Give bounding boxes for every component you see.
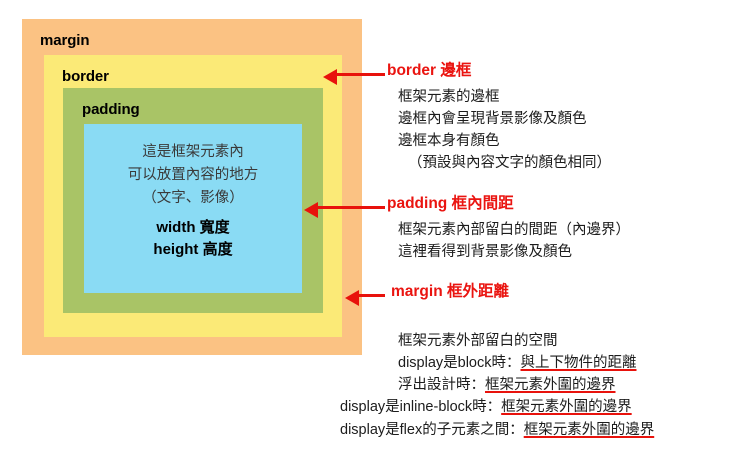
margin-layer: margin border padding 這是框架元素內 可以放置內容的地方 … (22, 19, 362, 355)
case-prefix: display是block時： (398, 355, 521, 371)
case-underlined: 與上下物件的距離 (521, 355, 637, 371)
annotation-line: 框架元素的邊框 (398, 86, 611, 108)
annotation-title-border: border 邊框 (387, 62, 611, 80)
border-layer-label: border (62, 69, 109, 84)
arrow-to-padding-icon (317, 206, 385, 209)
annotation-case-line: display是block時：與上下物件的距離 (398, 352, 750, 374)
box-model-diagram: margin border padding 這是框架元素內 可以放置內容的地方 … (22, 19, 362, 355)
annotation-line: 邊框本身有顏色 (398, 130, 611, 152)
content-text-line: （文字、影像） (142, 187, 244, 210)
annotation-line: 這裡看得到背景影像及顏色 (398, 241, 630, 263)
margin-layer-label: margin (40, 33, 89, 48)
case-prefix: 浮出設計時： (398, 377, 485, 393)
content-height-label: height 高度 (153, 239, 232, 261)
annotation-block-margin: margin 框外距離 (387, 283, 509, 307)
annotation-title-padding: padding 框內間距 (387, 195, 630, 213)
annotation-line: 框架元素外部留白的空間 (398, 330, 750, 352)
padding-layer-label: padding (82, 102, 140, 117)
content-text-line: 這是框架元素內 (142, 141, 244, 164)
annotation-margin-body: 框架元素外部留白的空間 display是block時：與上下物件的距離 浮出設計… (387, 330, 750, 396)
content-text-line: 可以放置內容的地方 (128, 164, 259, 187)
case-prefix: display是inline-block時： (340, 399, 501, 415)
annotation-case-line: display是inline-block時：框架元素外圍的邊界 (340, 396, 750, 419)
arrow-to-margin-icon (358, 294, 385, 297)
case-underlined: 框架元素外圍的邊界 (524, 422, 655, 438)
annotation-line: 邊框內會呈現背景影像及顏色 (398, 108, 611, 130)
case-underlined: 框架元素外圍的邊界 (501, 399, 632, 415)
annotation-case-line: display是flex的子元素之間：框架元素外圍的邊界 (340, 419, 750, 442)
annotation-case-line: 浮出設計時：框架元素外圍的邊界 (398, 374, 750, 396)
content-layer: 這是框架元素內 可以放置內容的地方 （文字、影像） width 寬度 heigh… (84, 124, 302, 293)
annotation-margin-extra: display是inline-block時：框架元素外圍的邊界 display是… (340, 396, 750, 442)
border-layer: border padding 這是框架元素內 可以放置內容的地方 （文字、影像）… (44, 55, 342, 337)
annotation-block-padding: padding 框內間距 框架元素內部留白的間距（內邊界） 這裡看得到背景影像及… (387, 195, 630, 263)
case-underlined: 框架元素外圍的邊界 (485, 377, 616, 393)
case-prefix: display是flex的子元素之間： (340, 422, 524, 438)
arrow-to-border-icon (336, 73, 385, 76)
annotation-block-border: border 邊框 框架元素的邊框 邊框內會呈現背景影像及顏色 邊框本身有顏色 … (387, 62, 611, 174)
annotation-title-margin: margin 框外距離 (391, 283, 509, 301)
annotation-line: （預設與內容文字的顏色相同） (408, 152, 611, 174)
padding-layer: padding 這是框架元素內 可以放置內容的地方 （文字、影像） width … (63, 88, 323, 313)
annotation-line: 框架元素內部留白的間距（內邊界） (398, 219, 630, 241)
content-width-label: width 寬度 (156, 217, 229, 239)
